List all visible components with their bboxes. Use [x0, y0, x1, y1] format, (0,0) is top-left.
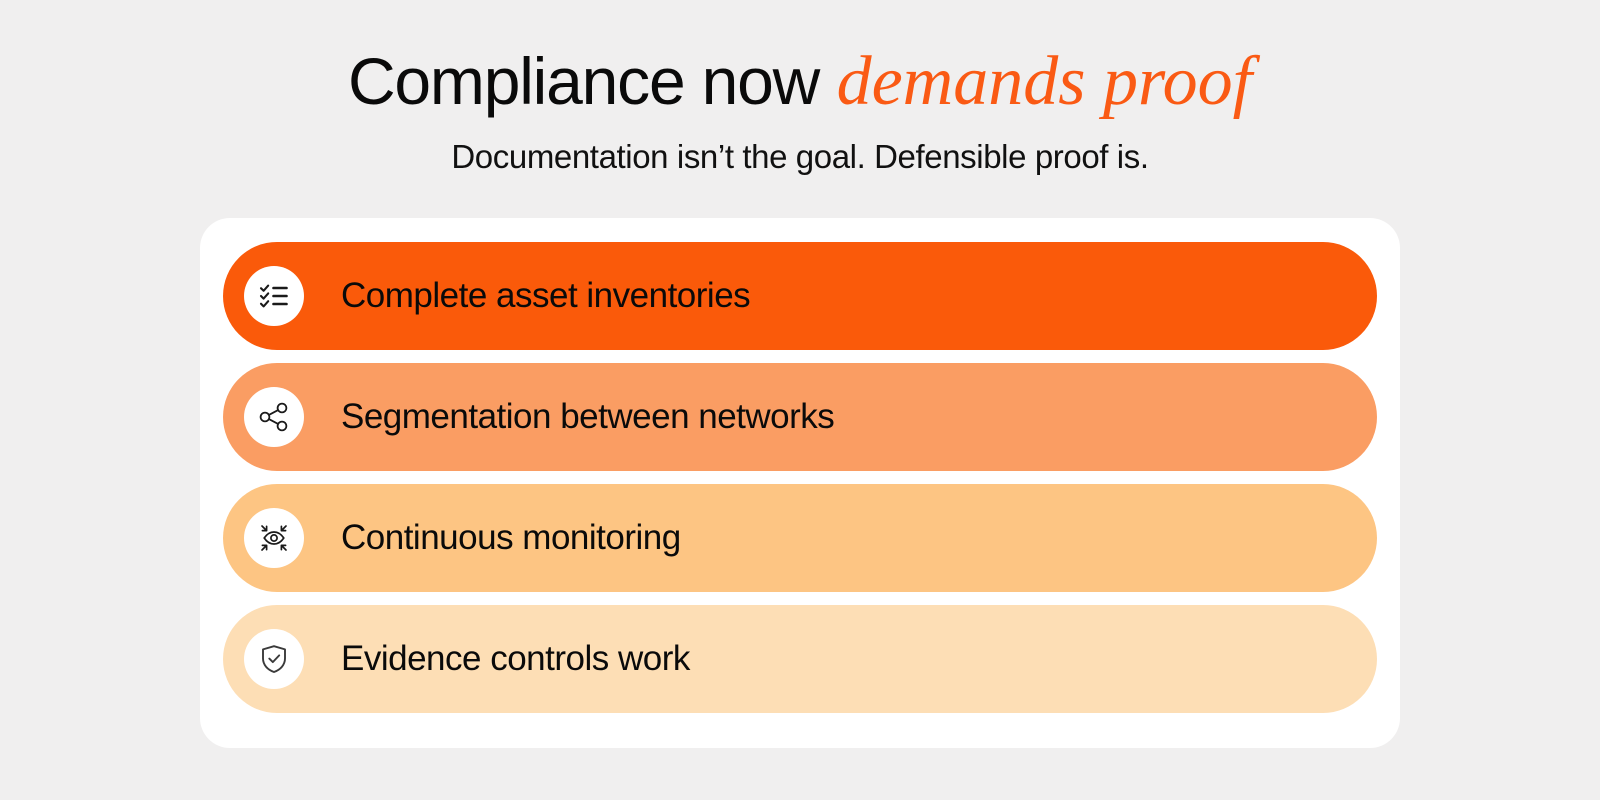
page-title-plain: Compliance now	[348, 44, 819, 118]
requirement-label: Continuous monitoring	[341, 518, 681, 558]
requirement-row-asset-inventories[interactable]: Complete asset inventories	[223, 242, 1377, 350]
shield-check-icon	[244, 629, 304, 689]
requirement-label: Segmentation between networks	[341, 397, 834, 437]
page-subtitle: Documentation isn’t the goal. Defensible…	[0, 138, 1600, 176]
checklist-icon	[244, 266, 304, 326]
requirement-row-segmentation[interactable]: Segmentation between networks	[223, 363, 1377, 471]
requirements-card: Complete asset inventories Segmentation …	[200, 218, 1400, 748]
page-title: Compliance now demands proof	[0, 44, 1600, 120]
page-title-accent: demands proof	[819, 43, 1252, 120]
share-nodes-icon	[244, 387, 304, 447]
page-title-accent-text: demands proof	[837, 43, 1252, 120]
requirement-label: Evidence controls work	[341, 639, 690, 679]
requirement-row-monitoring[interactable]: Continuous monitoring	[223, 484, 1377, 592]
requirement-row-evidence[interactable]: Evidence controls work	[223, 605, 1377, 713]
requirement-label: Complete asset inventories	[341, 276, 750, 316]
eye-focus-icon	[244, 508, 304, 568]
header-block: Compliance now demands proof Documentati…	[0, 44, 1600, 176]
slide-canvas: Compliance now demands proof Documentati…	[0, 0, 1600, 800]
